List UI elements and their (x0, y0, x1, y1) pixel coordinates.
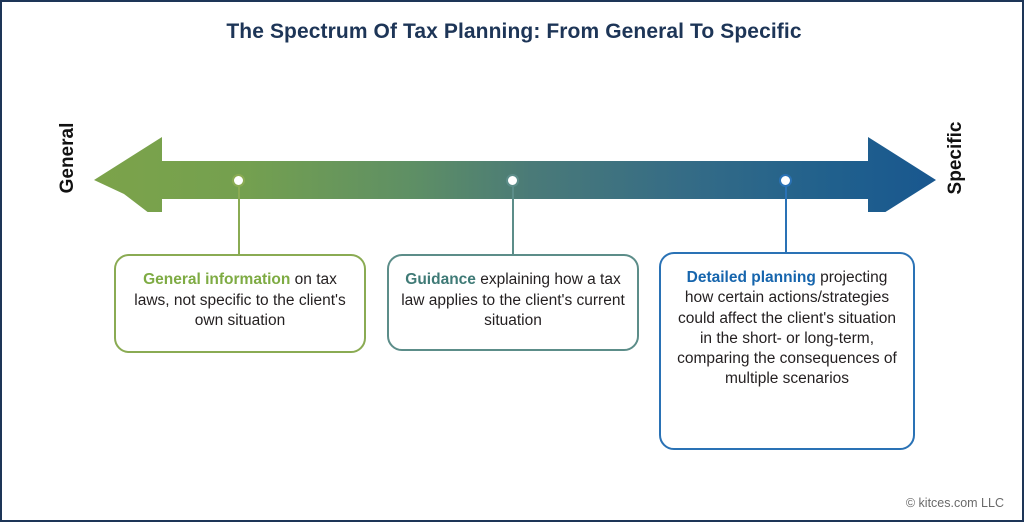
copyright-credit: © kitces.com LLC (906, 496, 1004, 510)
callout-lead-3: Detailed planning (687, 269, 816, 286)
connector-line-1 (238, 180, 240, 256)
infographic-canvas: The Spectrum Of Tax Planning: From Gener… (0, 0, 1024, 522)
connector-line-2 (512, 180, 514, 254)
connector-dot-1 (232, 174, 245, 187)
connector-dot-3 (779, 174, 792, 187)
callout-detailed-planning: Detailed planning projecting how certain… (659, 252, 915, 450)
callout-lead-2: Guidance (405, 271, 476, 288)
page-title: The Spectrum Of Tax Planning: From Gener… (2, 20, 1024, 44)
callout-guidance: Guidance explaining how a tax law applie… (387, 254, 639, 351)
callout-body-3: projecting how certain actions/strategie… (677, 269, 897, 387)
callout-lead-1: General information (143, 271, 290, 288)
connector-line-3 (785, 180, 787, 252)
connector-dot-2 (506, 174, 519, 187)
callout-general-information: General information on tax laws, not spe… (114, 254, 366, 353)
